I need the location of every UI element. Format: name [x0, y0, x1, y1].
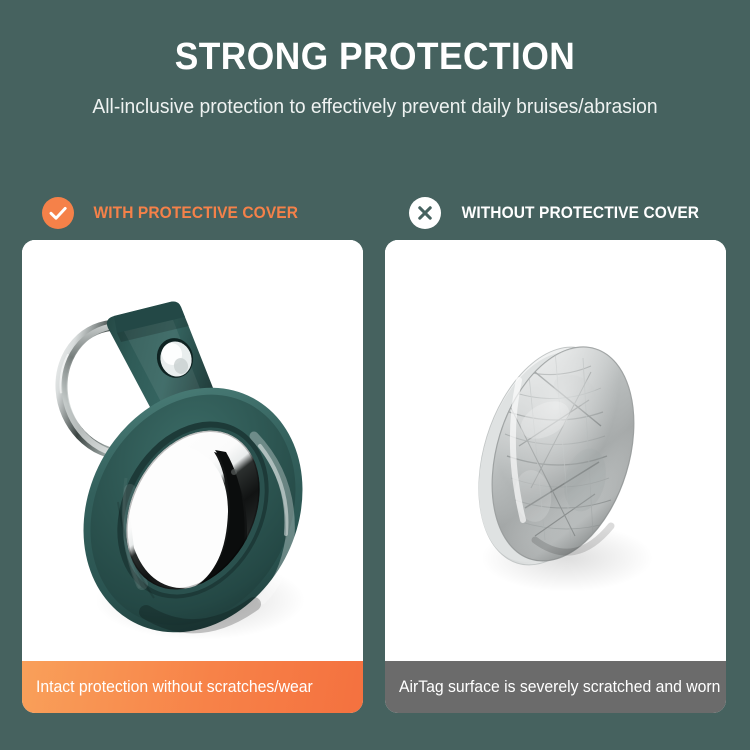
- badge-with-cover-label: WITH PROTECTIVE COVER: [94, 204, 298, 223]
- x-circle-icon: [409, 197, 441, 229]
- caption-with-cover: Intact protection without scratches/wear: [22, 661, 363, 713]
- product-photo-without-cover: [385, 240, 726, 661]
- caption-without-cover-text: AirTag surface is severely scratched and…: [399, 678, 720, 697]
- header: STRONG PROTECTION All-inclusive protecti…: [0, 0, 750, 122]
- card-without-cover: AirTag surface is severely scratched and…: [385, 240, 726, 713]
- check-circle-icon: [42, 197, 74, 229]
- product-photo-with-cover: [22, 240, 363, 661]
- card-with-cover: Intact protection without scratches/wear: [22, 240, 363, 713]
- badge-without-cover: WITHOUT PROTECTIVE COVER: [375, 187, 750, 239]
- comparison-cards: Intact protection without scratches/wear: [22, 240, 726, 713]
- page-subtitle: All-inclusive protection to effectively …: [23, 92, 728, 122]
- comparison-badges: WITH PROTECTIVE COVER WITHOUT PROTECTIVE…: [0, 187, 750, 239]
- caption-without-cover: AirTag surface is severely scratched and…: [385, 661, 726, 713]
- badge-with-cover: WITH PROTECTIVE COVER: [0, 187, 375, 239]
- page-title: STRONG PROTECTION: [26, 34, 724, 80]
- caption-with-cover-text: Intact protection without scratches/wear: [36, 678, 313, 697]
- badge-without-cover-label: WITHOUT PROTECTIVE COVER: [461, 204, 698, 223]
